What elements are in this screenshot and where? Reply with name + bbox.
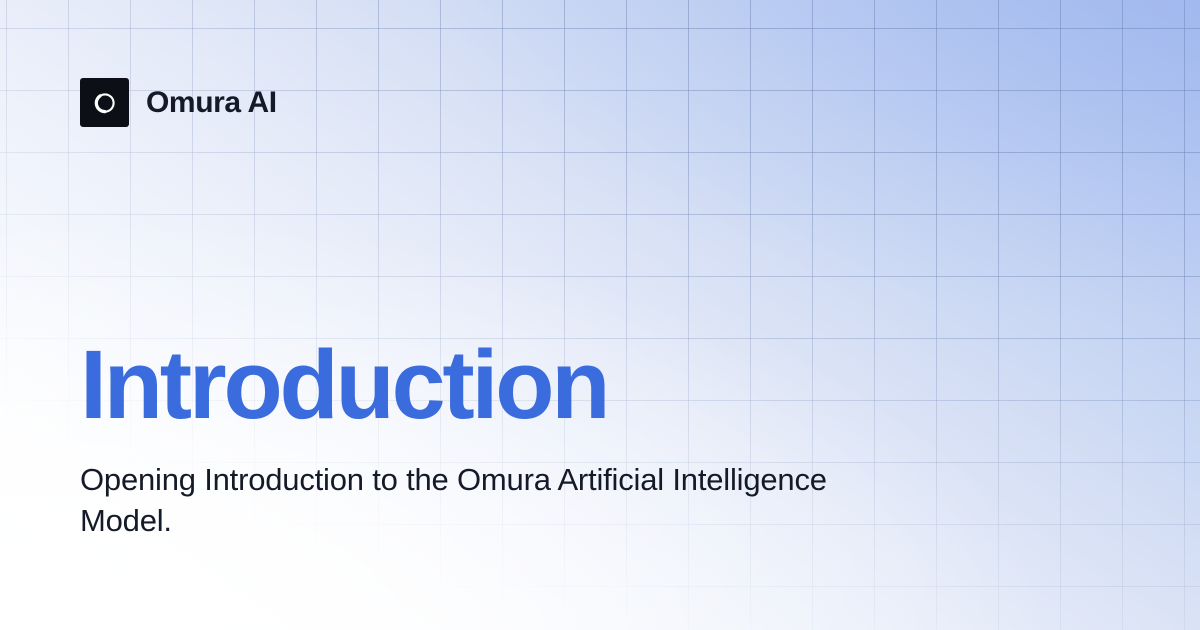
brand-logo-badge xyxy=(80,78,129,127)
brand-name: Omura AI xyxy=(146,88,277,118)
og-card: Omura AI Introduction Opening Introducti… xyxy=(0,0,1200,630)
page-subtitle: Opening Introduction to the Omura Artifi… xyxy=(80,459,860,541)
hero-copy: Introduction Opening Introduction to the… xyxy=(80,336,940,541)
page-title: Introduction xyxy=(80,336,940,433)
brand-lockup: Omura AI xyxy=(80,78,277,127)
ring-circle-icon xyxy=(92,90,118,116)
